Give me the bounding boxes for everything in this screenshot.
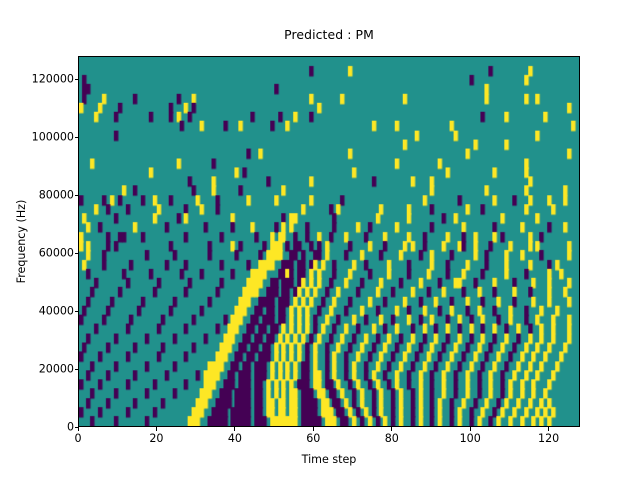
y-axis-label: Frequency (Hz) xyxy=(14,56,30,427)
y-tick-label: 20000 xyxy=(39,363,74,376)
y-tick-mark xyxy=(75,79,79,80)
x-tick-mark xyxy=(548,427,549,431)
x-tick-mark xyxy=(156,427,157,431)
x-tick-label: 20 xyxy=(149,432,163,445)
matplotlib-figure: Predicted : PM Frequency (Hz) Time step … xyxy=(0,0,640,480)
y-tick-mark xyxy=(75,195,79,196)
chart-title: Predicted : PM xyxy=(78,27,580,42)
x-tick-label: 40 xyxy=(228,432,242,445)
x-tick-label: 80 xyxy=(385,432,399,445)
x-tick-mark xyxy=(234,427,235,431)
y-tick-label: 40000 xyxy=(39,305,74,318)
y-tick-mark xyxy=(75,311,79,312)
y-tick-label: 0 xyxy=(67,421,74,434)
y-tick-label: 100000 xyxy=(32,131,74,144)
x-tick-label: 120 xyxy=(538,432,559,445)
y-tick-mark xyxy=(75,369,79,370)
x-tick-mark xyxy=(391,427,392,431)
x-axis-label: Time step xyxy=(78,453,580,466)
y-tick-label: 120000 xyxy=(32,73,74,86)
x-tick-label: 0 xyxy=(74,432,81,445)
x-tick-label: 100 xyxy=(460,432,481,445)
x-tick-mark xyxy=(313,427,314,431)
y-tick-mark xyxy=(75,137,79,138)
x-tick-mark xyxy=(78,427,79,431)
x-tick-label: 60 xyxy=(306,432,320,445)
y-tick-label: 60000 xyxy=(39,247,74,260)
x-tick-mark xyxy=(470,427,471,431)
heatmap-canvas xyxy=(79,57,579,426)
heatmap-axes xyxy=(78,56,580,427)
y-tick-mark xyxy=(75,253,79,254)
y-tick-label: 80000 xyxy=(39,189,74,202)
